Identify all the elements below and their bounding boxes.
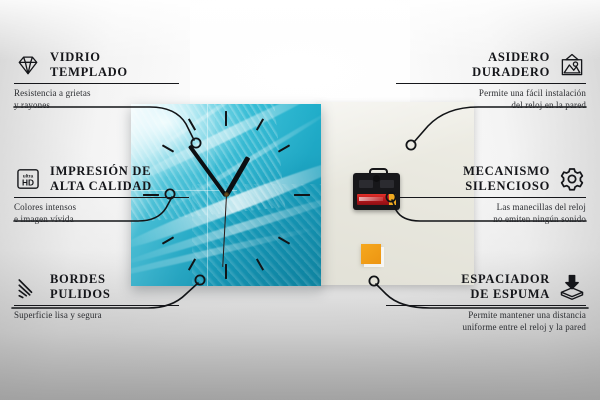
feature-desc-line1: Permite mantener una distancia bbox=[386, 310, 586, 322]
feature-desc-line2: no emiten ningún sonido bbox=[396, 214, 586, 226]
feature-header: BORDES PULIDOS bbox=[14, 272, 179, 302]
divider bbox=[14, 305, 179, 306]
feature-title: ASIDERO DURADERO bbox=[396, 50, 550, 80]
divider bbox=[386, 305, 586, 306]
feature-header: VIDRIO TEMPLADO bbox=[14, 50, 179, 80]
feature-desc-line1: Las manecillas del reloj bbox=[396, 202, 586, 214]
divider bbox=[14, 197, 189, 198]
feature-title: ESPACIADOR DE ESPUMA bbox=[386, 272, 550, 302]
polished-edges-icon bbox=[14, 273, 42, 301]
feature-desc-line1: Permite una fácil instalación bbox=[396, 88, 586, 100]
connector-node bbox=[191, 138, 200, 147]
foam-spacer-icon bbox=[558, 273, 586, 301]
feature-header: ASIDERO DURADERO bbox=[396, 50, 586, 80]
feature-title: IMPRESIÓN DE ALTA CALIDAD bbox=[50, 164, 152, 194]
feature-desc-line2: uniforme entre el reloj y la pared bbox=[386, 322, 586, 334]
feature-desc-line1: Colores intensos bbox=[14, 202, 189, 214]
connector-node bbox=[406, 140, 415, 149]
feature-title: BORDES PULIDOS bbox=[50, 272, 110, 302]
feature-header: ESPACIADOR DE ESPUMA bbox=[386, 272, 586, 302]
feature-mecanismo-silencioso: MECANISMO SILENCIOSO Las manecillas del … bbox=[396, 164, 586, 225]
feature-title: VIDRIO TEMPLADO bbox=[50, 50, 128, 80]
picture-frame-hanger-icon bbox=[558, 51, 586, 79]
feature-bordes-pulidos: BORDES PULIDOS Superficie lisa y segura bbox=[14, 272, 179, 322]
feature-title: MECANISMO SILENCIOSO bbox=[396, 164, 550, 194]
feature-desc-line2: y rayones bbox=[14, 100, 179, 112]
feature-desc-line2: e imagen vívida bbox=[14, 214, 189, 226]
feature-desc-line2: del reloj en la pared bbox=[396, 100, 586, 112]
feature-impresion-alta-calidad: ultra HD IMPRESIÓN DE ALTA CALIDAD Color… bbox=[14, 164, 189, 225]
ultra-hd-icon: ultra HD bbox=[14, 165, 42, 193]
feature-desc-line1: Superficie lisa y segura bbox=[14, 310, 179, 322]
divider bbox=[14, 83, 179, 84]
feature-vidrio-templado: VIDRIO TEMPLADO Resistencia a grietas y … bbox=[14, 50, 179, 111]
feature-desc-line1: Resistencia a grietas bbox=[14, 88, 179, 100]
feature-espaciador-de-espuma: ESPACIADOR DE ESPUMA Permite mantener un… bbox=[386, 272, 586, 333]
infographic-canvas: VIDRIO TEMPLADO Resistencia a grietas y … bbox=[0, 0, 600, 400]
feature-header: MECANISMO SILENCIOSO bbox=[396, 164, 586, 194]
connector-node bbox=[195, 275, 204, 284]
divider bbox=[396, 197, 586, 198]
connector-node bbox=[386, 192, 395, 201]
gear-icon bbox=[558, 165, 586, 193]
diamond-icon bbox=[14, 51, 42, 79]
feature-asidero-duradero: ASIDERO DURADERO Permite una fácil insta… bbox=[396, 50, 586, 111]
feature-header: ultra HD IMPRESIÓN DE ALTA CALIDAD bbox=[14, 164, 189, 194]
svg-text:HD: HD bbox=[22, 178, 34, 188]
connector-node bbox=[369, 276, 378, 285]
divider bbox=[396, 83, 586, 84]
